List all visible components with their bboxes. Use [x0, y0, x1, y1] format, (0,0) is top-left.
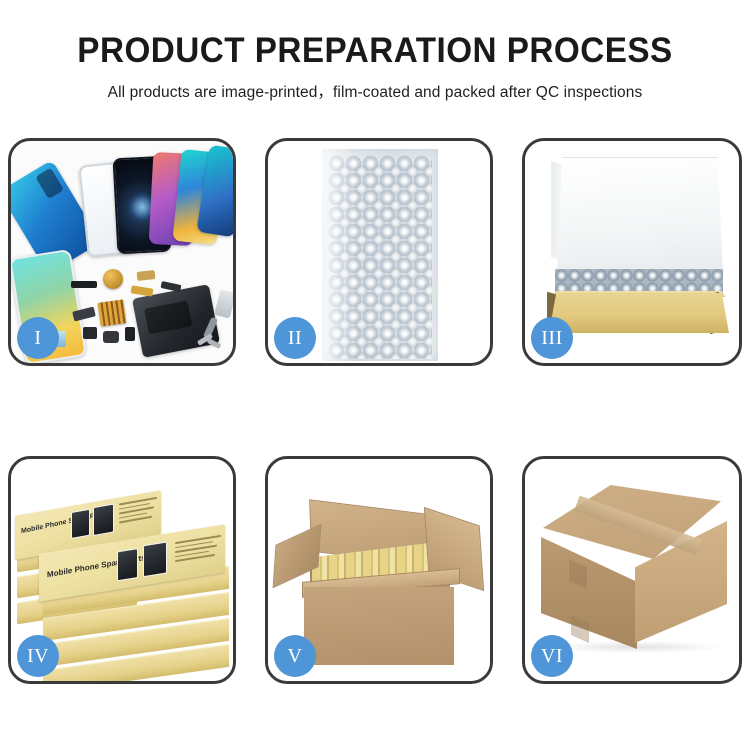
process-row-bottom: Mobile Phone Spare Parts Mobi — [8, 456, 742, 684]
infographic-page: PRODUCT PREPARATION PROCESS All products… — [0, 0, 750, 750]
box-art-screen-1 — [71, 509, 90, 539]
bubble-wrap-sleeve — [322, 149, 438, 361]
part-block-3 — [125, 327, 135, 341]
process-step-card-4[interactable]: Mobile Phone Spare Parts Mobi — [8, 456, 236, 684]
part-ic-grid — [97, 299, 126, 326]
box-art-screen-2 — [93, 503, 114, 536]
page-subtitle: All products are image-printed，film-coat… — [0, 70, 750, 102]
part-battery — [214, 289, 233, 318]
part-gold-strip-2 — [137, 270, 156, 281]
part-gold-strip-1 — [131, 285, 154, 296]
page-title: PRODUCT PREPARATION PROCESS — [19, 0, 732, 70]
process-step-card-2[interactable]: II — [265, 138, 493, 366]
process-step-card-6[interactable]: VI — [522, 456, 742, 684]
plastic-highlight — [322, 149, 356, 361]
process-step-card-3[interactable]: III — [522, 138, 742, 366]
step-badge-1: I — [17, 317, 59, 359]
box-spec-lines-back — [119, 497, 157, 526]
box-yellow-tray — [549, 293, 729, 333]
carton-shadow — [549, 641, 725, 653]
process-step-card-5[interactable]: V — [265, 456, 493, 684]
step-badge-3: III — [531, 317, 573, 359]
part-block-2 — [103, 331, 119, 343]
box-spec-lines-front — [175, 535, 221, 565]
part-strip-1 — [71, 281, 97, 288]
process-grid: I II — [8, 138, 742, 684]
box-art-screen-3 — [117, 548, 138, 581]
carton-front-panel — [304, 587, 454, 665]
box-art-screen-4 — [143, 541, 167, 577]
step-badge-5: V — [274, 635, 316, 677]
process-step-card-1[interactable]: I — [8, 138, 236, 366]
header: PRODUCT PREPARATION PROCESS All products… — [0, 0, 750, 102]
step-badge-4: IV — [17, 635, 59, 677]
part-block-1 — [83, 327, 97, 339]
box-white-lid — [557, 157, 723, 281]
sealed-carton-left-panel — [541, 537, 637, 649]
process-row-top: I II — [8, 138, 742, 366]
part-coin-connector — [103, 269, 123, 289]
step-badge-6: VI — [531, 635, 573, 677]
step-badge-2: II — [274, 317, 316, 359]
